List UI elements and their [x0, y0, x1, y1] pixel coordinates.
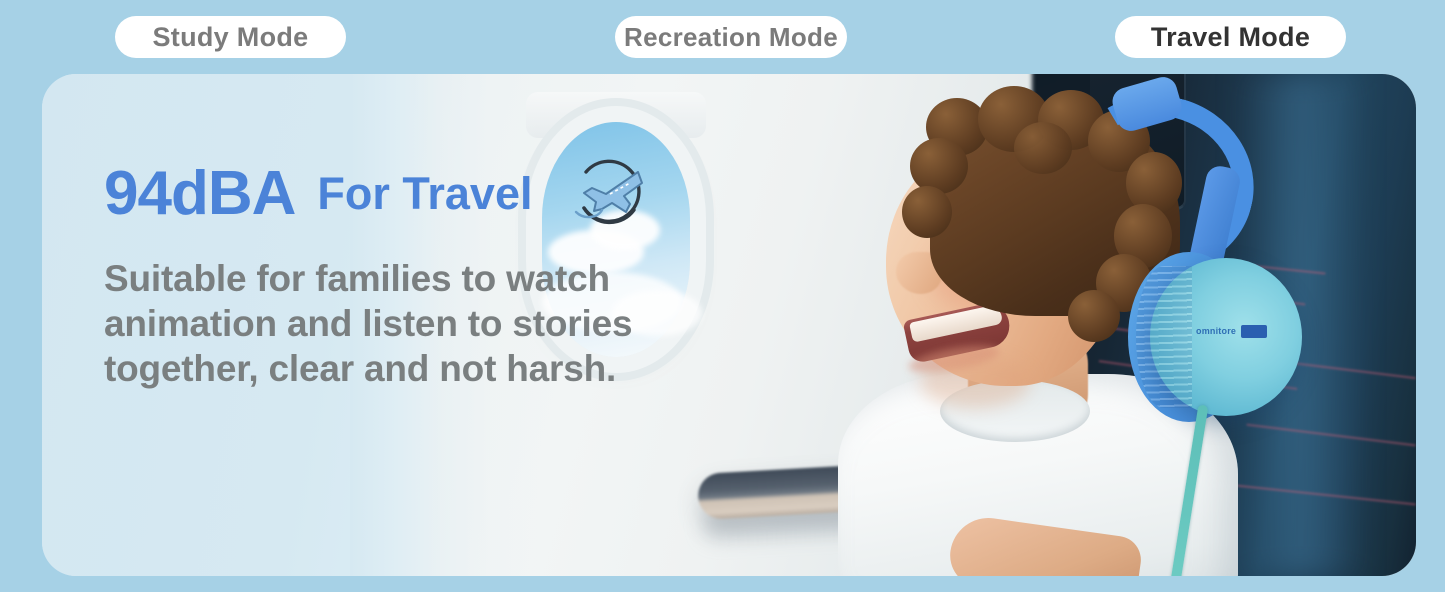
mode-tab-study[interactable]: Study Mode: [115, 16, 346, 58]
headline-decibel-value: 94dBA: [104, 163, 295, 225]
earcup-ridges: [1136, 266, 1192, 408]
child-figure: omnitore: [820, 74, 1290, 576]
mode-tab-recreation-label: Recreation Mode: [624, 22, 838, 53]
mode-tab-bar: Study Mode Recreation Mode Travel Mode: [0, 0, 1445, 62]
hair-curl: [1068, 290, 1120, 342]
mode-tab-study-label: Study Mode: [153, 22, 309, 53]
hair-curl: [910, 138, 968, 194]
brand-label: omnitore: [1196, 326, 1236, 336]
travel-mode-banner-card: omnitore 94dBA For Travel: [42, 74, 1416, 576]
mode-tab-recreation[interactable]: Recreation Mode: [615, 16, 847, 58]
banner-description: Suitable for families to watch animation…: [104, 256, 744, 391]
child-chin: [920, 356, 1030, 408]
headphone-brand-logo: omnitore: [1196, 320, 1276, 342]
mode-tab-travel[interactable]: Travel Mode: [1115, 16, 1346, 58]
hair-curl: [902, 186, 952, 238]
banner-headline: 94dBA For Travel: [104, 152, 654, 235]
banner-text-content: 94dBA For Travel Suitable for families t…: [42, 74, 802, 576]
brand-badge: [1241, 325, 1267, 338]
hair-curl: [1014, 122, 1072, 174]
headline-suffix: For Travel: [317, 171, 532, 216]
mode-tab-travel-label: Travel Mode: [1151, 22, 1310, 53]
airplane-circle-icon: [568, 152, 654, 235]
child-head: omnitore: [882, 104, 1172, 396]
